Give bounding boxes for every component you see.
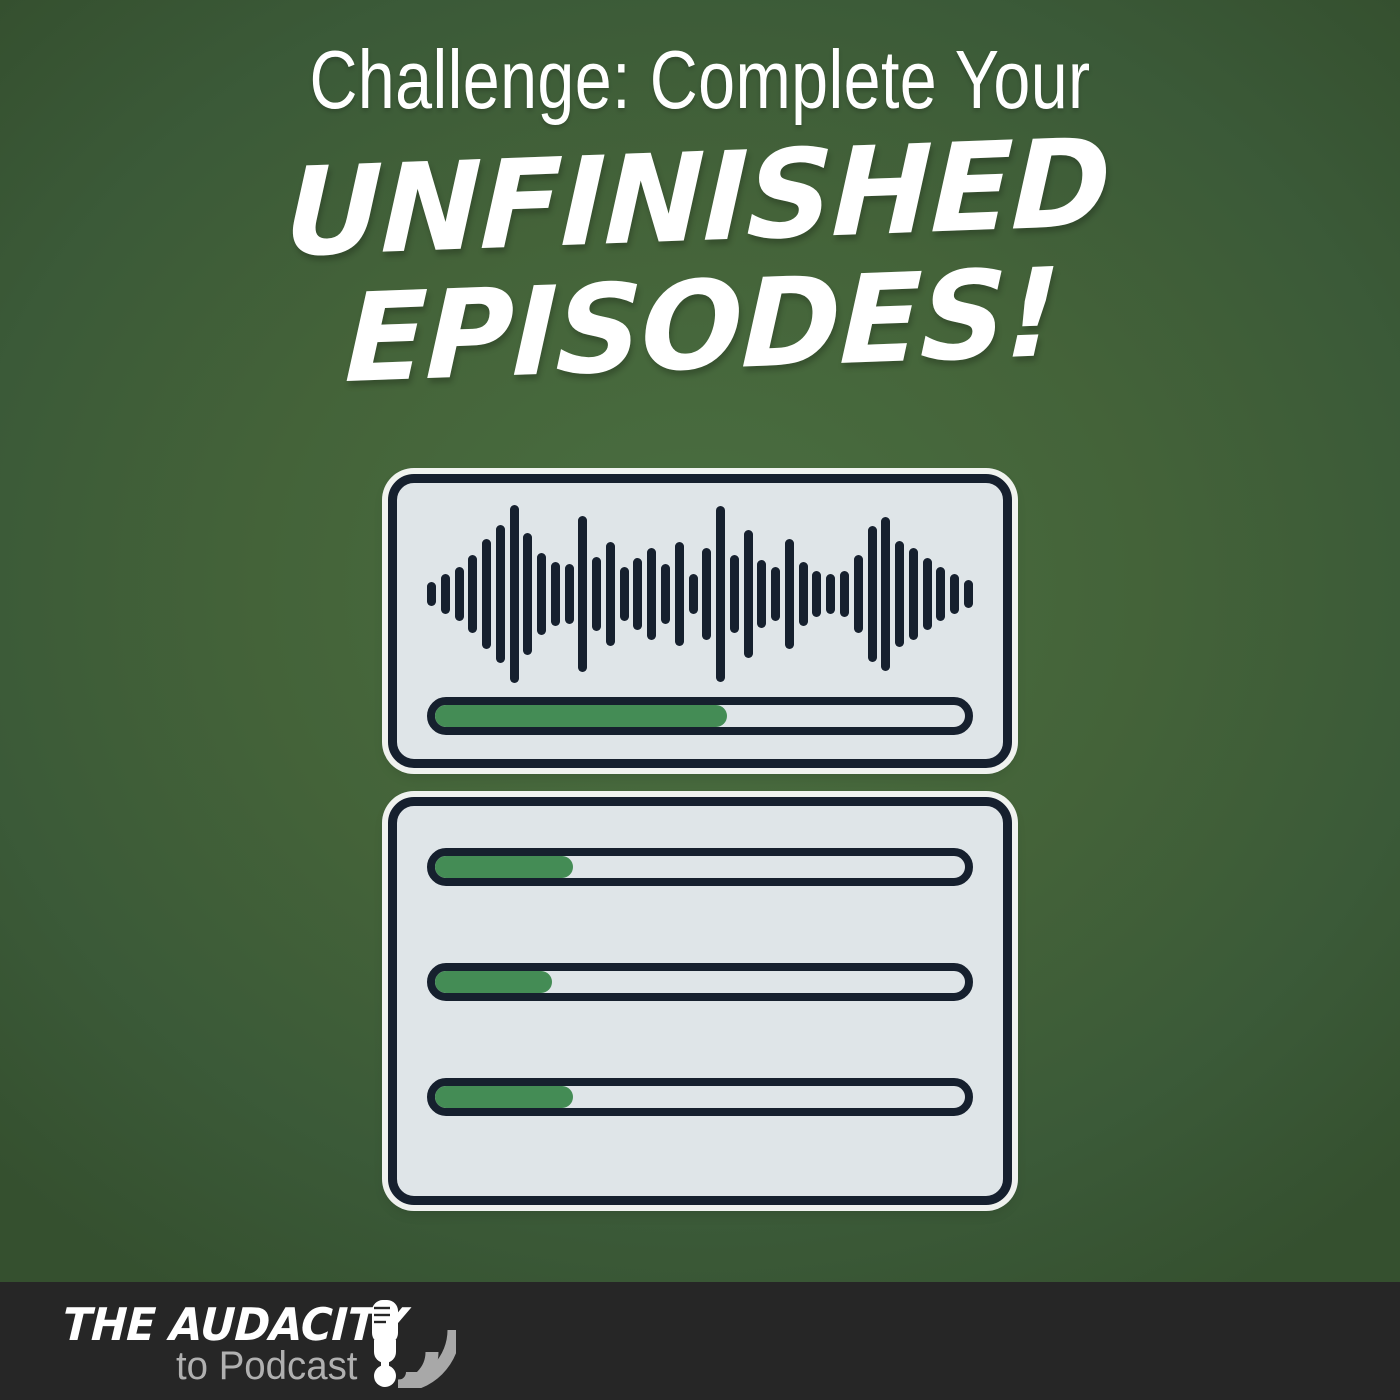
waveform-bar	[537, 553, 546, 635]
waveform-bar	[647, 548, 656, 641]
episode-progress-bar[interactable]	[427, 848, 973, 886]
waveform-bar	[551, 562, 560, 626]
waveform-bar	[565, 564, 574, 625]
waveform-bar	[633, 558, 642, 629]
waveform-bar	[578, 516, 587, 673]
episode-progress-fill	[435, 856, 573, 878]
waveform-bar	[799, 562, 808, 626]
waveform-bar	[702, 548, 711, 641]
title-block: Challenge: Complete Your UNFINISHED EPIS…	[0, 38, 1400, 386]
waveform-bar	[840, 571, 849, 617]
waveform-bar	[689, 574, 698, 613]
waveform-bar	[826, 574, 835, 613]
episode-progress-fill	[435, 971, 552, 993]
playback-progress-fill	[435, 705, 727, 727]
playback-progress-bar[interactable]	[427, 697, 973, 735]
waveform-bar	[895, 541, 904, 648]
waveform-bar	[854, 555, 863, 633]
episode-list-card	[388, 797, 1012, 1205]
waveform-bar	[675, 542, 684, 645]
waveform-bar	[909, 548, 918, 641]
waveform-bar	[482, 539, 491, 649]
waveform-card	[388, 474, 1012, 768]
waveform-bar	[950, 574, 959, 613]
logo-secondary-text: to Podcast	[176, 1344, 357, 1389]
waveform-bar	[716, 506, 725, 682]
waveform-bar	[785, 539, 794, 649]
waveform-bar	[661, 564, 670, 625]
waveform-bar	[868, 526, 877, 661]
waveform-bar	[757, 560, 766, 628]
waveform-bar	[427, 582, 436, 607]
footer-bar: THE AUDACITY to Podcast TheAudacitytoPo	[0, 1282, 1400, 1400]
title-brush-block: UNFINISHED EPISODES!	[0, 113, 1400, 411]
episode-progress-bar[interactable]	[427, 1078, 973, 1116]
waveform-bar	[936, 567, 945, 620]
waveform-bar	[606, 542, 615, 645]
brand-logo[interactable]: THE AUDACITY to Podcast	[58, 1296, 458, 1388]
waveform-bar	[744, 530, 753, 658]
episode-progress-bar[interactable]	[427, 963, 973, 1001]
waveform-bar	[620, 567, 629, 620]
waveform-bar	[730, 555, 739, 633]
waveform-bar	[812, 571, 821, 617]
waveform-bar	[523, 533, 532, 654]
audio-waveform	[427, 505, 973, 683]
waveform-bar	[923, 558, 932, 629]
microphone-icon	[346, 1296, 456, 1388]
waveform-bar	[441, 574, 450, 613]
waveform-bar	[771, 567, 780, 620]
waveform-bar	[592, 557, 601, 632]
waveform-bar	[468, 555, 477, 633]
waveform-bar	[510, 505, 519, 683]
waveform-bar	[881, 517, 890, 670]
waveform-bar	[455, 567, 464, 620]
waveform-bar	[964, 580, 973, 608]
title-line-1: Challenge: Complete Your	[140, 38, 1260, 121]
episode-progress-fill	[435, 1086, 573, 1108]
waveform-bar	[496, 525, 505, 664]
podcast-cover-art: Challenge: Complete Your UNFINISHED EPIS…	[0, 0, 1400, 1400]
